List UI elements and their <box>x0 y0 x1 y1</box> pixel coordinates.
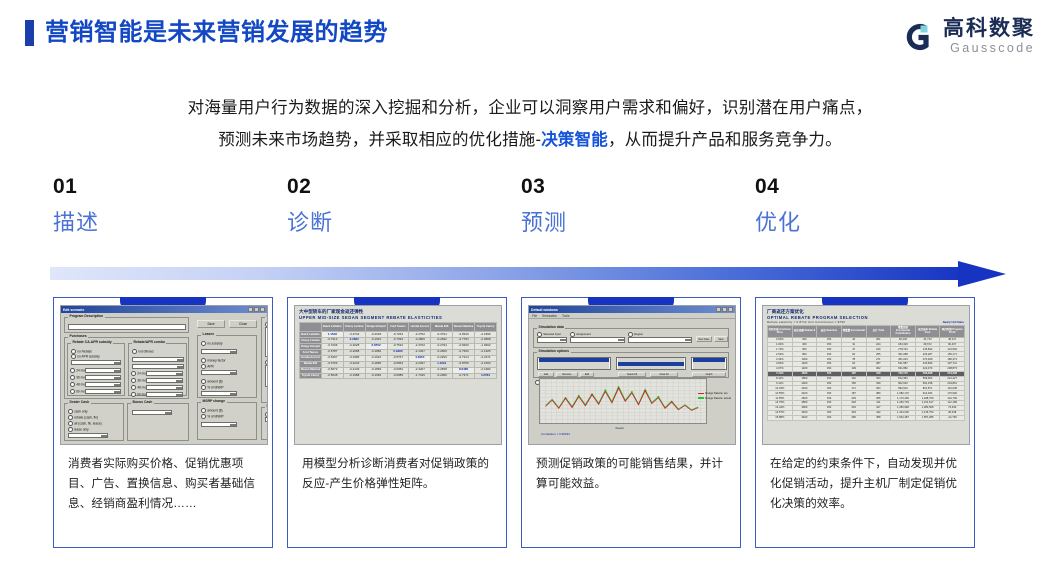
step-04: 04 优化 <box>755 176 975 235</box>
gausscode-logo-icon <box>901 20 935 54</box>
window-controls <box>248 307 265 312</box>
rebate-amount-field[interactable] <box>71 360 121 365</box>
term-24mo-field[interactable] <box>85 368 121 373</box>
slide-root: 营销智能是未来营销发展的趋势 高科数聚 Gausscode 对海量用户行为数据的… <box>0 0 1051 586</box>
group-label: Program Description <box>68 314 105 318</box>
close-button[interactable]: Close <box>229 320 257 328</box>
outputs-listbox[interactable] <box>691 357 727 370</box>
group-rollover-incentives: Rollover incentives Model Region Clear R… <box>261 407 268 440</box>
group-bonus-cash: Bonus Cash <box>127 403 189 441</box>
intro-line-2-suffix: ，从而提升产品和服务竞争力。 <box>608 131 842 149</box>
slide-header: 营销智能是未来营销发展的趋势 高科数聚 Gausscode <box>0 0 1051 72</box>
results-chart <box>539 378 707 424</box>
group-simulation-options: Simulation options Add Remove Edit Selec… <box>533 352 729 378</box>
col-header: Nissan Maxima <box>453 322 475 331</box>
combo-24mo-label: 24 mo. <box>131 371 147 376</box>
screenshot-edit-scenario: Edit scenario Program Description <box>60 305 268 445</box>
col-header: Toyota Camry <box>475 322 497 331</box>
cell: -0.1988 <box>343 373 365 379</box>
save-button[interactable]: Save <box>197 320 225 328</box>
radio-pct-msrp[interactable]: % of MSRP <box>201 385 224 390</box>
term-36mo-field[interactable] <box>85 375 121 380</box>
title-accent-bar <box>25 20 34 46</box>
logo-cn-name: 高科数聚 <box>943 18 1035 40</box>
cell: 265 <box>841 415 866 420</box>
term-60mo-field[interactable] <box>85 389 121 394</box>
group-program-description: Program Description <box>64 317 189 333</box>
group-label: Dealer Cash <box>68 400 91 404</box>
cell: -22,799 <box>940 415 965 420</box>
step-02: 02 诊断 <box>287 176 507 235</box>
radio-all-cash-fin-lease[interactable]: all (cash, fin, lease) <box>68 421 102 426</box>
regions-listbox[interactable] <box>265 365 268 387</box>
close-icon <box>728 307 733 312</box>
card-caption-01: 消费者实际购买价格、促销优惠项目、广告、置换信息、购买者基础信息、经销商盈利情况… <box>68 454 260 514</box>
group-label: MSRP change <box>201 399 227 403</box>
cell: -0.7371 <box>453 373 475 379</box>
cell: -0.6589 <box>387 373 409 379</box>
combo-60mo-rate[interactable] <box>146 392 183 397</box>
maximize-icon <box>722 307 727 312</box>
menu-tools[interactable]: Tools <box>562 314 569 318</box>
group-scenario-incentives: Scenario incentives Model(s) Select All … <box>261 317 268 403</box>
lease-cash-field[interactable] <box>201 349 237 354</box>
step-03-number: 03 <box>521 176 741 198</box>
models-listbox[interactable] <box>265 327 268 357</box>
scenarios-listbox[interactable] <box>537 357 611 370</box>
combo-24mo-rate[interactable] <box>146 371 183 376</box>
screenshot-optimal-rebate: 厂商返还方案优化 OPTIMAL REBATE PROGRAM SELECTIO… <box>762 305 970 445</box>
col-header: 返还成本 Rebate Cost <box>915 326 940 337</box>
legend-swatch-green <box>698 397 704 399</box>
corner-cell <box>300 322 322 331</box>
intro-line-1: 对海量用户行为数据的深入挖掘和分析，企业可以洞察用户需求和偏好，识别潜在用户痛点… <box>188 99 873 117</box>
radio-rebate-cash-fin[interactable]: rebate (cash, fin) <box>68 415 98 420</box>
group-label: Leases <box>201 332 216 336</box>
lease-residual-field[interactable] <box>201 391 237 396</box>
cell: 458 <box>866 415 891 420</box>
group-rebate-apr-subsidy: Rebate CA-APR subsidy no Rebate no APR s… <box>67 343 125 396</box>
combo-extra-field[interactable] <box>132 364 184 369</box>
col-header: 总计 Total <box>866 326 891 337</box>
new-case-button[interactable]: New Case <box>696 336 712 342</box>
win3-title: Default windows <box>531 308 558 312</box>
combo-60mo-label: 60 mo. <box>131 392 147 397</box>
combo-amount-field[interactable] <box>132 357 184 362</box>
cell: -0.5648 <box>321 373 343 379</box>
card-diagnose[interactable]: 大中型轿车的厂家现金返还弹性 UPPER MID-SIZE SEDAN SEGM… <box>287 297 507 548</box>
bonus-cash-field[interactable] <box>132 410 172 415</box>
col-header: Chevy Lumina <box>343 322 365 331</box>
clear-all-button[interactable]: Clear All <box>650 372 678 377</box>
assignment-select[interactable] <box>570 337 625 343</box>
combo-48mo-label: 48 mo. <box>131 385 147 390</box>
group-dealer-cash: Dealer Cash cash only rebate (cash, fin)… <box>64 403 124 441</box>
group-rebate-apr-combo: Rebate/APR combo not offered 24 mo. 36 m… <box>128 343 187 396</box>
cell: 150 <box>817 415 842 420</box>
col-header: 返还 Reaction <box>817 326 842 337</box>
menu-file[interactable]: File <box>532 314 537 318</box>
dealer-cash-field[interactable] <box>68 433 108 438</box>
correlation-text: Correlation = 0.96391 <box>541 432 570 436</box>
maximize-icon <box>254 307 259 312</box>
group-label: Purchases <box>68 334 88 338</box>
cell: -0.1660 <box>365 373 387 379</box>
card-predict[interactable]: Default windows File Simulation Tools <box>521 297 741 548</box>
optimal-rebate-table: 实际价格 Customer Price 返还金额 Rebate $ 返还 Rea… <box>767 325 965 420</box>
cell: 3400 <box>792 415 817 420</box>
group-label: Rollover incentives <box>265 404 268 408</box>
step-04-number: 04 <box>755 176 975 198</box>
term-60mo-label: 60 mo. <box>70 389 86 394</box>
cell: 1,534,487 <box>891 415 916 420</box>
logo-en-name: Gausscode <box>950 40 1035 56</box>
col-header: Mazda 626 <box>431 322 453 331</box>
radio-msrp-amount[interactable]: amount ($) <box>201 408 223 413</box>
screenshot-elasticity-matrix: 大中型轿车的厂家现金返还弹性 UPPER MID-SIZE SEDAN SEGM… <box>294 305 502 445</box>
graph-button[interactable]: Graph <box>692 372 726 377</box>
group-simulation-data: Simulation data Selected input Assignmen… <box>533 328 729 348</box>
minimize-icon <box>716 307 721 312</box>
group-leases: Leases no subsidy money factor APR amoun… <box>197 335 257 398</box>
card-caption-04: 在给定的约束条件下，自动发现并优化促销活动，提升主机厂制定促销优化决策的效率。 <box>770 454 962 514</box>
selected-input-select[interactable] <box>537 337 567 343</box>
card-caption-02: 用模型分析诊断消费者对促销政策的反应-产生价格弹性矩阵。 <box>302 454 494 494</box>
row-header: Toyota Camry <box>300 373 322 379</box>
group-purchases: Purchases Rebate CA-APR subsidy no Rebat… <box>64 337 189 399</box>
chart-xlabel: Weeks <box>615 426 624 430</box>
radio-money-factor[interactable]: money factor <box>201 358 226 363</box>
step-02-label: 诊断 <box>287 211 507 235</box>
group-msrp-change: MSRP change amount ($) % of MSRP <box>197 402 257 440</box>
col-header: 项目利润 Program Profit <box>940 326 965 337</box>
term-36mo-label: 36 mo. <box>70 375 86 380</box>
radio-no-subsidy[interactable]: no subsidy <box>201 341 222 346</box>
progress-arrow <box>50 261 1012 287</box>
card-describe[interactable]: Edit scenario Program Description <box>53 297 273 548</box>
msrp-change-field[interactable] <box>201 422 237 427</box>
remove-button[interactable]: Remove <box>556 372 578 377</box>
arrow-head-icon <box>958 261 1006 287</box>
intro-line-2-prefix: 预测未来市场趋势，并采取相应的优化措施- <box>218 131 541 149</box>
radio-lease-only[interactable]: lease only <box>68 427 89 432</box>
legend-swatch-red <box>698 393 704 395</box>
col-header: 返还金额 Rebate $ <box>792 326 817 337</box>
step-01-number: 01 <box>53 176 273 198</box>
table-header-row: 实际价格 Customer Price 返还金额 Rebate $ 返还 Rea… <box>768 326 965 337</box>
step-02-number: 02 <box>287 176 507 198</box>
minimize-icon <box>248 307 253 312</box>
matrix-title-en: UPPER MID-SIZE SEDAN SEGMENT REBATE ELAS… <box>299 315 497 320</box>
rollover-model-select[interactable] <box>265 417 268 422</box>
opt-note: Nearly Unit Sales <box>943 321 964 324</box>
select-all-button[interactable]: Select All <box>618 372 646 377</box>
radio-msrp-pct[interactable]: % of MSRP <box>201 414 224 419</box>
radio-no-apr-subsidy[interactable]: no APR subsidy <box>71 354 100 359</box>
group-label: Simulation options <box>537 349 571 353</box>
legend-label: Dodge Dakota: actual <box>705 397 731 400</box>
cell: 15.88% <box>768 415 793 420</box>
legend-item-estimated: Dodge Dakota: est. <box>698 392 731 395</box>
step-04-label: 优化 <box>755 211 975 235</box>
legend-item-actual: Dodge Dakota: actual <box>698 397 731 400</box>
step-01: 01 描述 <box>53 176 273 235</box>
table-row: Toyota Camry -0.5648 -0.1988 -0.1660 -0.… <box>300 373 497 379</box>
logo-text: 高科数聚 Gausscode <box>943 18 1035 56</box>
close-icon <box>260 307 265 312</box>
col-header: 增量贡献 Incremental Contribution <box>891 326 916 337</box>
group-label: Rebate/APR combo <box>132 340 166 344</box>
col-header: Ford Taurus <box>387 322 409 331</box>
brand-logo: 高科数聚 Gausscode <box>901 18 1035 56</box>
group-label: Simulation data <box>537 325 565 329</box>
term-48mo-label: 48 mo. <box>70 382 86 387</box>
program-description-input[interactable] <box>68 324 186 330</box>
cell: 4.2561 <box>475 373 497 379</box>
models-listbox[interactable] <box>616 357 686 370</box>
intro-paragraph: 对海量用户行为数据的深入挖掘和分析，企业可以洞察用户需求和偏好，识别潜在用户痛点… <box>50 92 1010 156</box>
card-caption-03: 预测促销政策的可能销售结果，并计算可能效益。 <box>536 454 728 494</box>
arrow-shaft <box>50 267 966 280</box>
radio-amount[interactable]: amount ($) <box>201 379 223 384</box>
group-label: Scenario incentives <box>265 314 268 318</box>
card-row: Edit scenario Program Description <box>0 297 1051 552</box>
combo-36mo-rate[interactable] <box>146 378 183 383</box>
elasticity-table: Buick LaSabre Chevy Lumina Dodge Intrepi… <box>299 322 497 380</box>
group-label: Rebate CA-APR subsidy <box>71 340 113 344</box>
title-row: 营销智能是未来营销发展的趋势 <box>25 20 388 46</box>
step-labels: 01 描述 02 诊断 03 预测 04 优化 <box>0 176 1051 252</box>
screenshot-simulation: Default windows File Simulation Tools <box>528 305 736 445</box>
radio-cash-only[interactable]: cash only <box>68 409 88 414</box>
table-row: 15.88%34001502654581,534,4871,557,285-22… <box>768 415 965 420</box>
group-label: Bonus Cash <box>131 400 154 404</box>
intro-highlight: 决策智能 <box>541 131 608 149</box>
step-03: 03 预测 <box>521 176 741 235</box>
win1-title: Edit scenario <box>63 308 84 312</box>
page-title: 营销智能是未来营销发展的趋势 <box>45 21 388 45</box>
term-48mo-field[interactable] <box>85 382 121 387</box>
radio-not-offered[interactable]: not offered <box>132 349 153 354</box>
cell: -1.7436 <box>409 373 431 379</box>
radio-apr[interactable]: APR <box>201 364 214 369</box>
menu-simulation[interactable]: Simulation <box>542 314 557 318</box>
region-select[interactable] <box>628 337 692 343</box>
step-01-label: 描述 <box>53 211 273 235</box>
col-header: 增量量 Incremental <box>841 326 866 337</box>
legend-label: Dodge Dakota: est. <box>705 392 728 395</box>
table-header-row: Buick LaSabre Chevy Lumina Dodge Intrepi… <box>300 322 497 331</box>
lease-rate-field[interactable] <box>201 370 237 375</box>
term-24mo-label: 24 mo. <box>70 368 86 373</box>
opt-subtitle: Rebate elasticity = 0.8712 Unit Contribu… <box>767 320 965 324</box>
optimal-rebate-body: 0.00%2001501620192,24031,71048,4471.00%4… <box>768 337 965 420</box>
cell: 1,557,285 <box>915 415 940 420</box>
edit-button[interactable]: Edit <box>580 372 594 377</box>
col-header: Buick LaSabre <box>321 322 343 331</box>
col-header: 实际价格 Customer Price <box>768 326 793 337</box>
card-optimize[interactable]: 厂商返还方案优化 OPTIMAL REBATE PROGRAM SELECTIO… <box>755 297 975 548</box>
add-button[interactable]: Add <box>538 372 554 377</box>
save-button[interactable]: Save <box>714 336 728 342</box>
col-header: Honda Accord <box>409 322 431 331</box>
combo-48mo-rate[interactable] <box>146 385 183 390</box>
step-03-label: 预测 <box>521 211 741 235</box>
chart-legend: Dodge Dakota: est. Dodge Dakota: actual <box>698 392 731 401</box>
combo-36mo-label: 36 mo. <box>131 378 147 383</box>
menu-bar[interactable]: File Simulation Tools <box>529 313 735 319</box>
cell: -0.2380 <box>431 373 453 379</box>
col-header: Dodge Intrepid <box>365 322 387 331</box>
window-controls <box>716 307 733 312</box>
